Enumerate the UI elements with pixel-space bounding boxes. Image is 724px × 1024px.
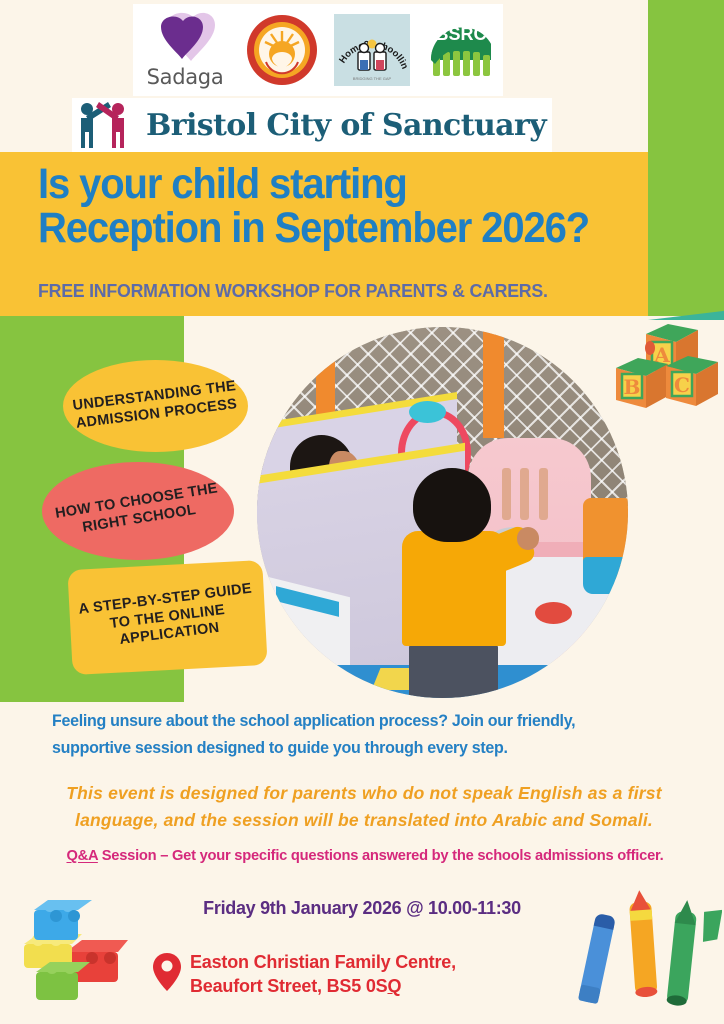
venue-line-2: Beaufort Street, BS5 0SQ [190,974,630,998]
abc-blocks-decoration: A B C [610,316,720,412]
postcode-last-letter: Q [387,976,401,996]
two-children-logo: Home2Schoollink BRIDGING THE GAP [334,14,410,86]
headline-line-2: Reception in September 2026? [38,207,596,251]
two-figures-house-logo [72,100,138,150]
background-green-right-strip [648,0,724,316]
lego-bricks-decoration [8,896,128,1014]
photo-child-two-head [413,468,491,542]
venue-line-1: Easton Christian Family Centre, [190,950,630,974]
svg-text:BRIDGING THE GAP: BRIDGING THE GAP [352,76,391,81]
photo-child-two-hand [517,527,539,549]
play-area-photo [257,327,628,698]
photo-utensil-2 [520,468,529,520]
qa-rest: Session – Get your specific questions an… [98,847,664,864]
photo-toy-mixer-bowl [583,557,628,594]
bubble-choose-school-text: HOW TO CHOOSE THE RIGHT SCHOOL [40,479,235,544]
crayons-decoration [572,884,722,1024]
logo-sadaga: Sadaga [139,9,231,91]
circular-seal-logo [246,14,318,86]
bubble-admission-text: UNDERSTANDING THE ADMISSION PROCESS [62,377,250,435]
heart-logo [153,11,217,67]
venue-address: Easton Christian Family Centre, Beaufort… [190,950,630,999]
svg-text:B: B [624,375,641,399]
subtitle: FREE INFORMATION WORKSHOP FOR PARENTS & … [38,280,633,302]
logo-refugee-women-of-bristol [246,14,318,86]
venue-line-2-text: Beaufort Street, BS5 0S [190,976,387,996]
photo-pillar-right [483,327,503,438]
headline-line-1: Is your child starting [38,160,407,208]
logo-sadaga-label: Sadaga [139,65,231,89]
qa-paragraph: Q&A Session – Get your specific question… [33,847,697,864]
bubble-admission: UNDERSTANDING THE ADMISSION PROCESS [63,360,248,452]
logo-bsrc-label: BSRC [435,24,486,44]
photo-tomato-decal [535,602,572,624]
page-title: Is your child starting Reception in Sept… [38,163,596,251]
poster-root: Sadaga [0,0,724,1024]
sanctuary-title: Bristol City of Sanctuary [146,108,546,143]
bubble-online-application-text: A STEP-BY-STEP GUIDE TO THE ONLINE APPLI… [67,579,267,655]
bubble-online-application: A STEP-BY-STEP GUIDE TO THE ONLINE APPLI… [67,560,267,675]
photo-utensil-1 [502,468,511,520]
logo-home2schoollink: Home2Schoollink BRIDGING THE GAP [334,14,410,86]
qa-label: Q&A [66,847,97,864]
intro-paragraph: Feeling unsure about the school applicat… [52,708,653,762]
location-pin-icon [152,952,182,992]
bristol-city-of-sanctuary-bar: Bristol City of Sanctuary [72,98,552,152]
photo-utensil-3 [539,468,548,520]
logo-bsrc: BSRC [425,14,497,86]
photo-child-two-jeans [409,642,498,698]
green-dome-logo: BSRC [425,14,497,86]
translation-paragraph: This event is designed for parents who d… [40,780,688,834]
partner-logo-strip: Sadaga [133,4,503,96]
bubble-choose-school: HOW TO CHOOSE THE RIGHT SCHOOL [42,462,234,560]
svg-text:C: C [674,373,690,397]
